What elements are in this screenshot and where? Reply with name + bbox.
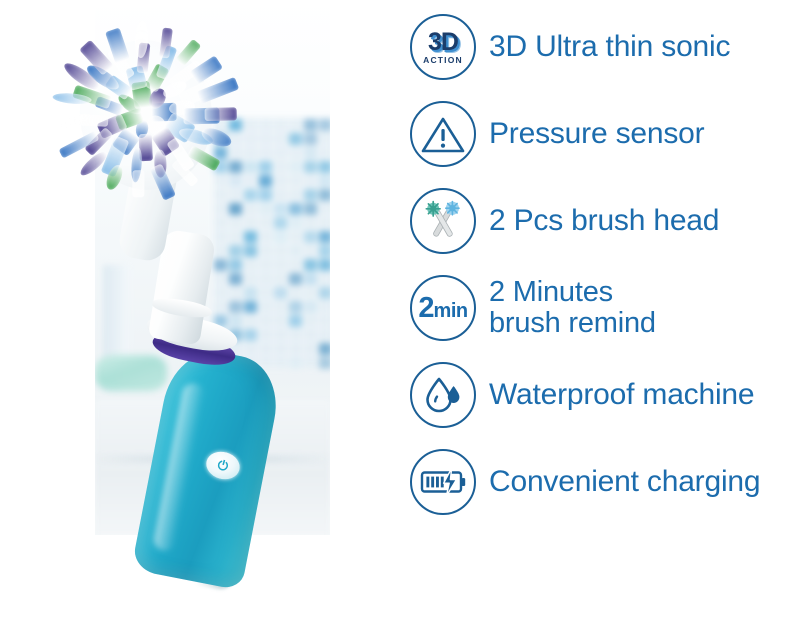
bristle-tuft xyxy=(205,107,238,121)
mosaic-tile xyxy=(214,259,227,271)
mosaic-tile xyxy=(289,315,302,327)
mosaic-tile xyxy=(319,245,330,257)
bristle-tuft xyxy=(132,170,144,197)
mosaic-tile xyxy=(244,189,257,201)
mosaic-tile xyxy=(229,161,242,173)
mint-towel xyxy=(95,355,167,391)
mosaic-tile xyxy=(289,161,302,173)
mosaic-tile xyxy=(229,301,242,313)
mosaic-tile xyxy=(244,231,257,243)
mosaic-tile xyxy=(304,133,317,145)
mosaic-tile xyxy=(244,329,257,341)
water-drop-icon xyxy=(410,362,476,428)
feature-row-3d-ultra-thin-sonic[interactable]: 3D ACTION 3D Ultra thin sonic xyxy=(400,10,790,84)
mosaic-tile xyxy=(304,119,317,131)
mosaic-tile xyxy=(274,287,287,299)
mosaic-tile xyxy=(304,231,317,243)
mosaic-tile xyxy=(244,245,257,257)
mosaic-tile xyxy=(319,161,330,173)
two-minute-timer-icon: 2 min xyxy=(410,275,476,341)
product-photo: ⏻ xyxy=(0,0,390,641)
mosaic-tile xyxy=(229,259,242,271)
mosaic-tile xyxy=(289,357,302,369)
feature-row-waterproof-machine[interactable]: Waterproof machine xyxy=(400,358,790,432)
mosaic-tile xyxy=(304,273,317,285)
mosaic-tile xyxy=(259,161,272,173)
timer-icon-unit: min xyxy=(434,300,468,323)
mosaic-tile xyxy=(319,287,330,299)
mosaic-tile xyxy=(304,189,317,201)
mosaic-tile xyxy=(319,175,330,187)
feature-label-waterproof-machine: Waterproof machine xyxy=(489,379,754,410)
feature-label-convenient-charging: Convenient charging xyxy=(489,466,760,497)
feature-label-3d-ultra-thin-sonic: 3D Ultra thin sonic xyxy=(489,31,730,62)
pressure-warning-icon xyxy=(410,101,476,167)
mosaic-tile xyxy=(289,203,302,215)
two-brush-heads-icon xyxy=(410,188,476,254)
mosaic-tile xyxy=(229,315,242,327)
feature-row-convenient-charging[interactable]: Convenient charging xyxy=(400,445,790,519)
mosaic-tile xyxy=(214,147,227,159)
mosaic-tile xyxy=(259,203,272,215)
3d-action-icon-main-text: 3D xyxy=(428,30,458,54)
mosaic-tile xyxy=(259,175,272,187)
feature-row-2-minutes-brush-remind[interactable]: 2 min 2 Minutes brush remind xyxy=(400,271,790,345)
mosaic-tile xyxy=(304,203,317,215)
mosaic-tile xyxy=(319,119,330,131)
mosaic-tile xyxy=(319,357,330,369)
mosaic-tile xyxy=(319,189,330,201)
3d-action-icon: 3D ACTION xyxy=(410,14,476,80)
feature-row-pressure-sensor[interactable]: Pressure sensor xyxy=(400,97,790,171)
mosaic-tile xyxy=(274,203,287,215)
mosaic-tile xyxy=(229,175,242,187)
mosaic-tile xyxy=(229,245,242,257)
mosaic-tile xyxy=(319,231,330,243)
mosaic-tile xyxy=(244,301,257,313)
mosaic-tile xyxy=(289,273,302,285)
battery-charging-icon xyxy=(410,449,476,515)
mosaic-tile xyxy=(289,133,302,145)
mosaic-tile xyxy=(244,287,257,299)
mosaic-tile xyxy=(289,245,302,257)
feature-row-2-pcs-brush-head[interactable]: 2 Pcs brush head xyxy=(400,184,790,258)
feature-label-pressure-sensor: Pressure sensor xyxy=(489,118,704,149)
feature-graphic-page: ⏻ 3D ACTION 3D Ultra thin sonic xyxy=(0,0,790,641)
mosaic-tile xyxy=(229,273,242,285)
timer-icon-number: 2 xyxy=(418,292,433,325)
mosaic-tile xyxy=(319,259,330,271)
mosaic-tile xyxy=(259,189,272,201)
feature-label-2-pcs-brush-head: 2 Pcs brush head xyxy=(489,205,719,236)
mosaic-tile xyxy=(289,301,302,313)
mosaic-tile xyxy=(319,343,330,355)
3d-action-icon-sub-text: ACTION xyxy=(423,55,463,65)
brand-logo xyxy=(160,259,204,295)
feature-list: 3D ACTION 3D Ultra thin sonic Pressure s… xyxy=(400,0,790,641)
mosaic-tile xyxy=(304,259,317,271)
feature-label-2-minutes-brush-remind: 2 Minutes brush remind xyxy=(489,277,656,339)
mosaic-tile xyxy=(289,217,302,229)
mosaic-tile xyxy=(304,161,317,173)
mosaic-tile xyxy=(244,161,257,173)
mosaic-tile xyxy=(229,203,242,215)
mosaic-tile xyxy=(304,301,317,313)
mosaic-tile xyxy=(274,231,287,243)
mosaic-tile xyxy=(304,147,317,159)
mosaic-tile xyxy=(274,217,287,229)
mosaic-tile xyxy=(229,119,242,131)
